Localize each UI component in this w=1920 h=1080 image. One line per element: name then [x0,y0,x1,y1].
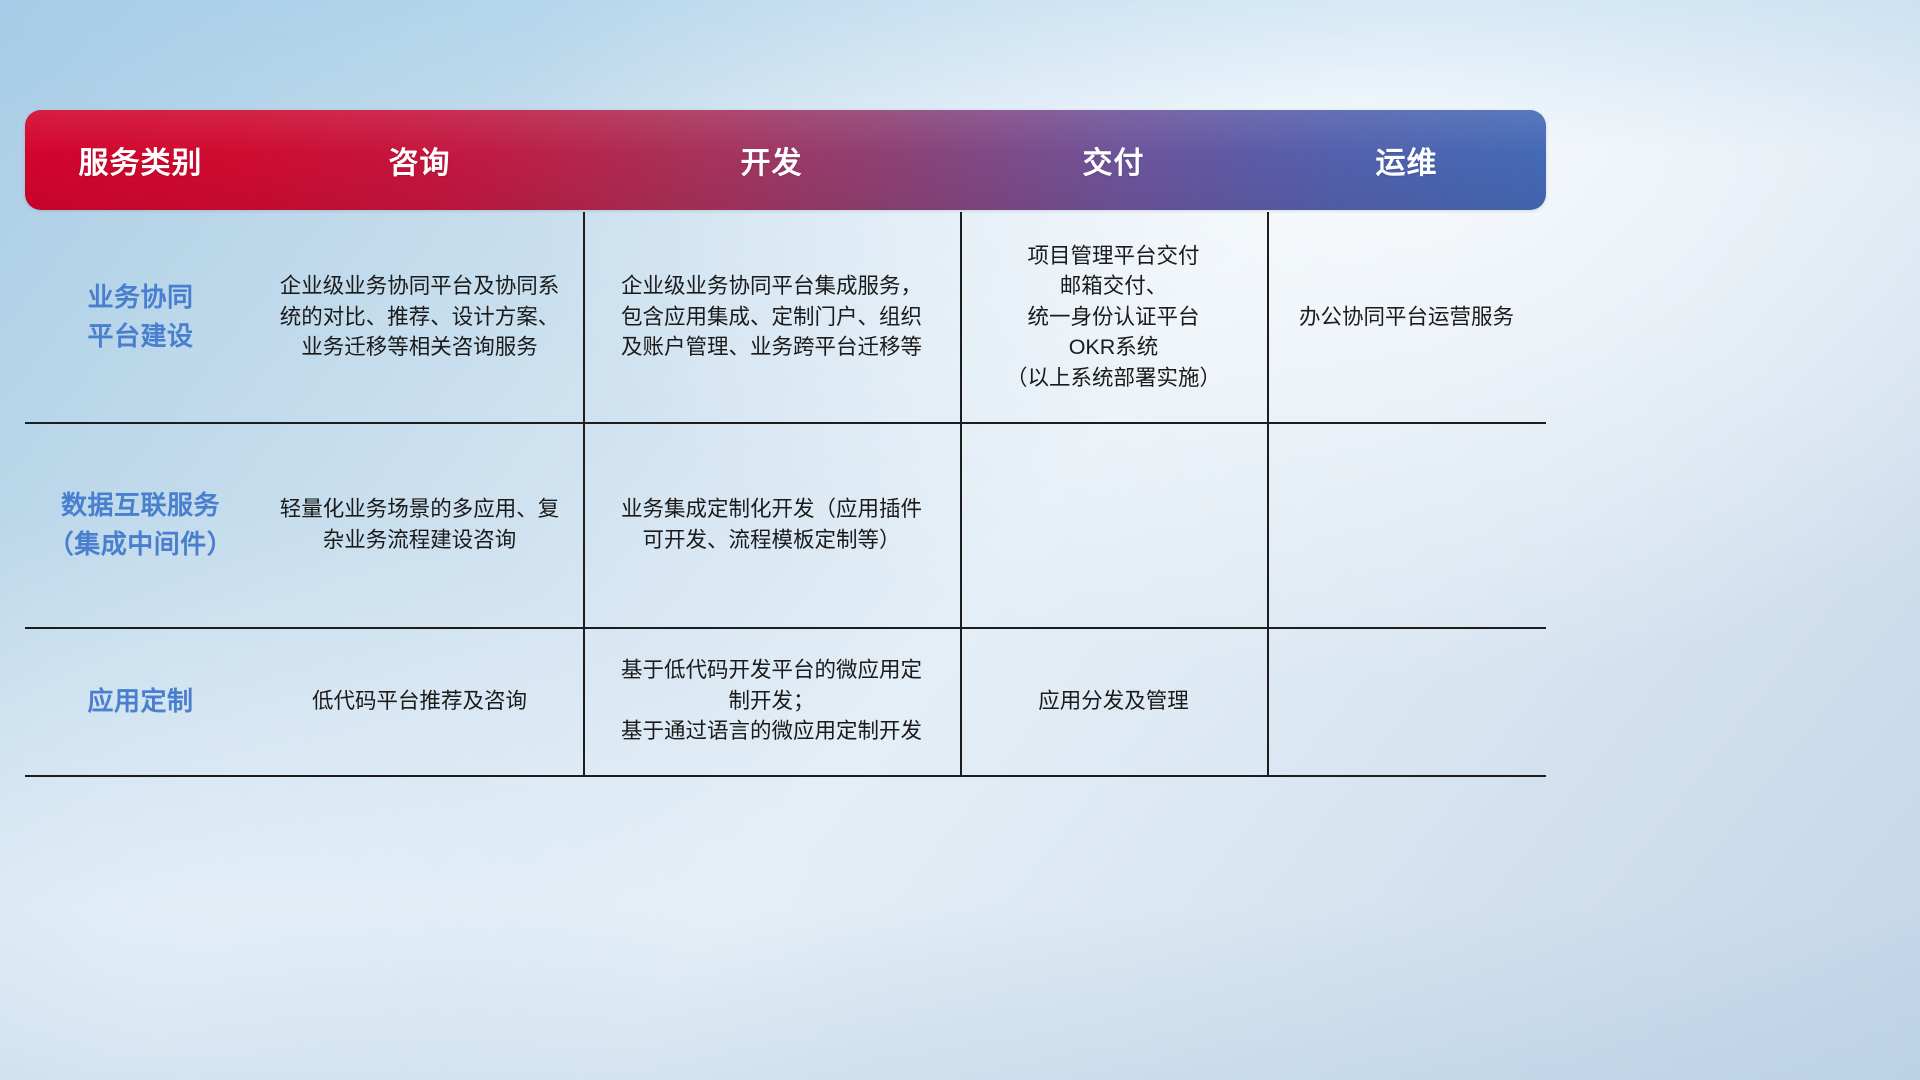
cell-development-row3: 基于低代码开发平台的微应用定 制开发； 基于通过语言的微应用定制开发 [583,627,960,775]
row-label-application-customization: 应用定制 [25,627,256,775]
table-row: 数据互联服务 （集成中间件） 轻量化业务场景的多应用、复 杂业务流程建设咨询 业… [25,422,1546,627]
column-header-delivery: 交付 [960,138,1267,182]
cell-operations-row2 [1267,422,1546,627]
table-header-row: 服务类别 咨询 开发 交付 运维 [25,110,1546,210]
table-row: 业务协同 平台建设 企业级业务协同平台及协同系 统的对比、推荐、设计方案、 业务… [25,212,1546,422]
column-divider-2 [960,212,962,775]
cell-consulting-row3: 低代码平台推荐及咨询 [256,627,583,775]
row-label-business-collaboration: 业务协同 平台建设 [25,212,256,422]
service-matrix-table: 服务类别 咨询 开发 交付 运维 业务协同 平台建设 企业级业务协同平台及协同系… [25,110,1546,775]
row-divider-2 [25,627,1546,629]
table-row: 应用定制 低代码平台推荐及咨询 基于低代码开发平台的微应用定 制开发； 基于通过… [25,627,1546,775]
cell-development-row2: 业务集成定制化开发（应用插件 可开发、流程模板定制等） [583,422,960,627]
column-header-operations: 运维 [1267,138,1546,182]
row-divider-1 [25,422,1546,424]
table-body: 业务协同 平台建设 企业级业务协同平台及协同系 统的对比、推荐、设计方案、 业务… [25,212,1546,775]
column-divider-3 [1267,212,1269,775]
cell-consulting-row2: 轻量化业务场景的多应用、复 杂业务流程建设咨询 [256,422,583,627]
column-header-consulting: 咨询 [256,138,583,182]
row-label-data-interconnection: 数据互联服务 （集成中间件） [25,422,256,627]
column-header-category: 服务类别 [25,138,256,182]
cell-consulting-row1: 企业级业务协同平台及协同系 统的对比、推荐、设计方案、 业务迁移等相关咨询服务 [256,212,583,422]
cell-delivery-row2 [960,422,1267,627]
cell-operations-row1: 办公协同平台运营服务 [1267,212,1546,422]
column-header-development: 开发 [583,138,960,182]
cell-delivery-row3: 应用分发及管理 [960,627,1267,775]
table-bottom-border [25,775,1546,777]
cell-development-row1: 企业级业务协同平台集成服务， 包含应用集成、定制门户、组织 及账户管理、业务跨平… [583,212,960,422]
cell-delivery-row1: 项目管理平台交付 邮箱交付、 统一身份认证平台 OKR系统 （以上系统部署实施） [960,212,1267,422]
column-divider-1 [583,212,585,775]
cell-operations-row3 [1267,627,1546,775]
